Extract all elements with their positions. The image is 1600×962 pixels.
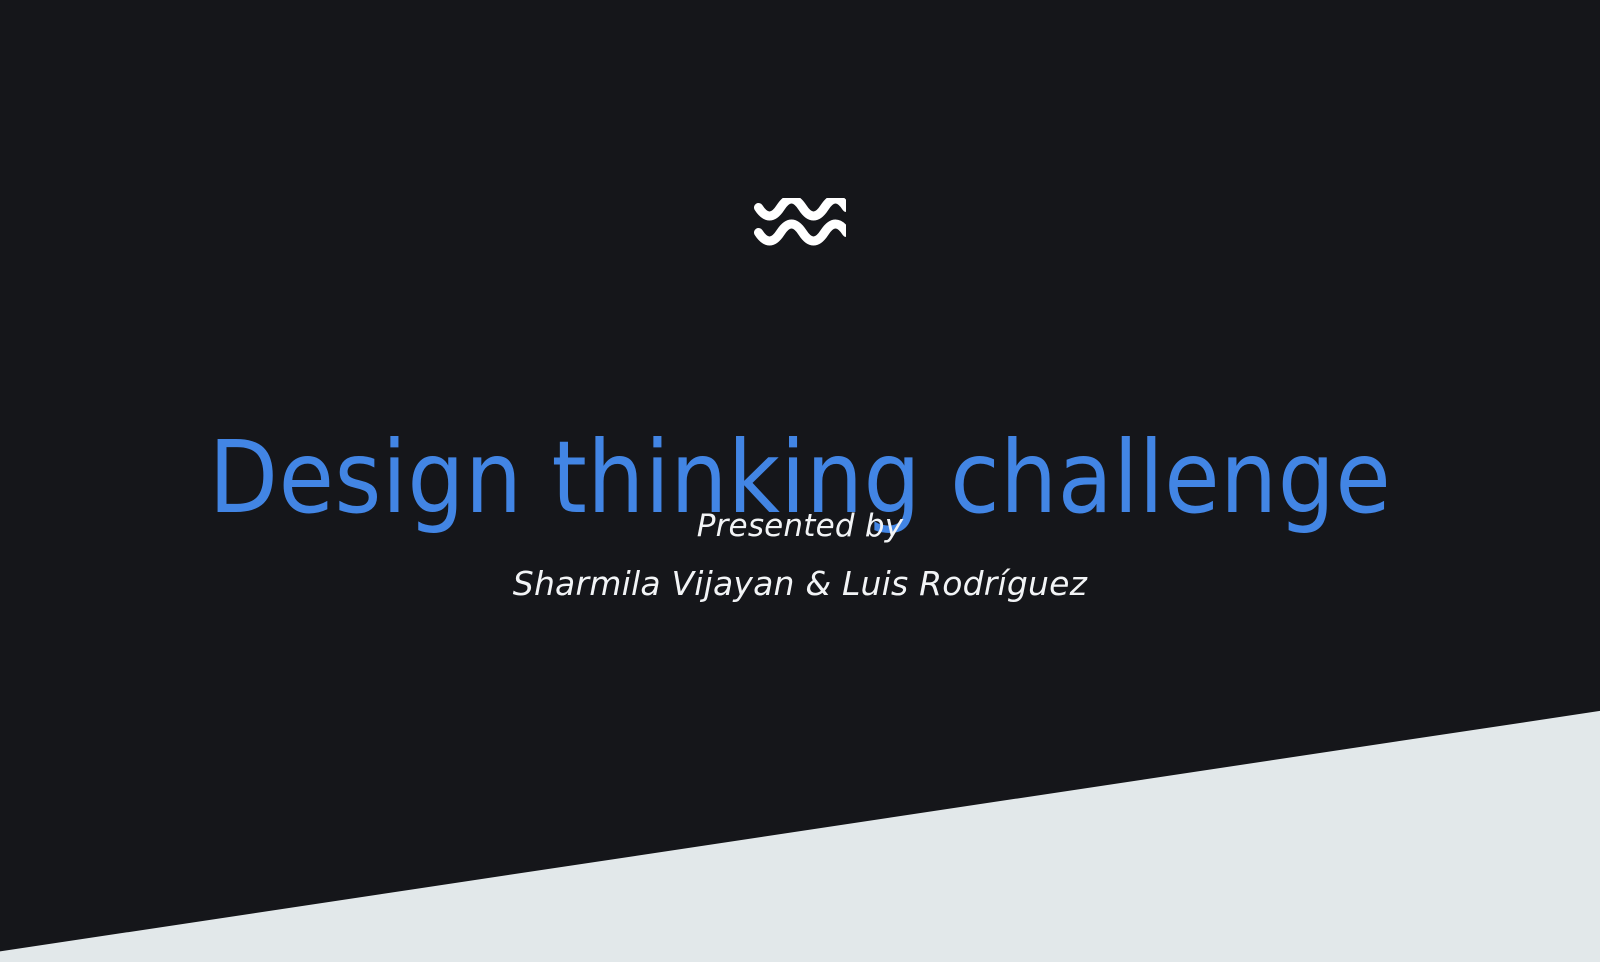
presenter-credit: Presented by Sharmila Vijayan & Luis Rod… (0, 498, 1600, 612)
slide-content: Design thinking challenge Presented by S… (0, 0, 1600, 962)
double-wave-mark-icon (754, 198, 846, 254)
title-slide: Design thinking challenge Presented by S… (0, 0, 1600, 962)
presented-by-label: Presented by (0, 498, 1600, 555)
presenter-names: Sharmila Vijayan & Luis Rodríguez (0, 555, 1600, 612)
